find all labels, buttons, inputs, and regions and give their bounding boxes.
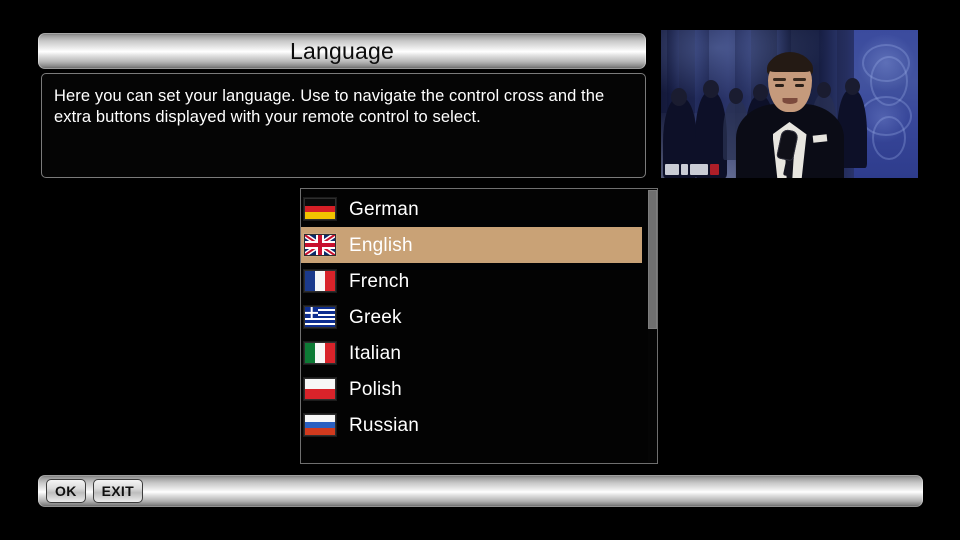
- exit-button[interactable]: EXIT: [93, 479, 143, 503]
- pocket-square: [813, 134, 828, 142]
- logo-segment: [665, 164, 679, 175]
- description-text: Here you can set your language. Use to n…: [54, 86, 632, 128]
- flag-ru-icon: [304, 414, 336, 436]
- flag-it-icon: [304, 342, 336, 364]
- logo-segment: [681, 164, 688, 175]
- channel-logo: [665, 163, 719, 175]
- reporter-eye: [795, 84, 804, 87]
- crowd-head: [753, 84, 768, 101]
- flag-pl-icon: [304, 378, 336, 400]
- list-item-label: French: [349, 272, 409, 291]
- list-item-label: Greek: [349, 308, 402, 327]
- decor-swirl: [872, 116, 906, 160]
- ok-button[interactable]: OK: [46, 479, 86, 503]
- logo-segment-accent: [710, 164, 719, 175]
- list-item[interactable]: Greek: [301, 299, 642, 335]
- language-list[interactable]: German English French: [301, 191, 642, 453]
- logo-segment: [690, 164, 708, 175]
- list-item[interactable]: English: [301, 227, 642, 263]
- crowd-head: [729, 88, 743, 104]
- language-list-panel: German English French: [300, 188, 658, 464]
- reporter-brow: [793, 78, 806, 81]
- bottom-action-bar: OK EXIT: [38, 475, 923, 507]
- list-item[interactable]: German: [301, 191, 642, 227]
- description-panel: Here you can set your language. Use to n…: [41, 73, 646, 178]
- list-item-label: Italian: [349, 344, 401, 363]
- language-list-scrollbar[interactable]: [648, 190, 657, 462]
- crowd-head: [703, 80, 719, 98]
- list-item-label: Polish: [349, 380, 402, 399]
- reporter-eye: [775, 84, 784, 87]
- list-item-label: English: [349, 236, 413, 255]
- list-item[interactable]: Russian: [301, 407, 642, 443]
- list-item-label: Russian: [349, 416, 419, 435]
- flag-de-icon: [304, 198, 336, 220]
- reporter-brow: [773, 78, 786, 81]
- page-title-bar: Language: [38, 33, 646, 69]
- tv-settings-screen: Language Here you can set your language.…: [0, 0, 960, 540]
- flag-gb-icon: [304, 234, 336, 256]
- live-tv-preview[interactable]: [661, 30, 918, 178]
- crowd-head: [817, 82, 831, 98]
- page-title: Language: [290, 40, 394, 63]
- crowd-head: [671, 88, 687, 106]
- crowd-head: [845, 78, 860, 95]
- list-item[interactable]: French: [301, 263, 642, 299]
- reporter-mouth: [782, 98, 797, 104]
- scrollbar-thumb[interactable]: [648, 190, 657, 329]
- list-item[interactable]: Polish: [301, 371, 642, 407]
- list-item[interactable]: Italian: [301, 335, 642, 371]
- list-item-label: German: [349, 200, 419, 219]
- flag-gr-icon: [304, 306, 336, 328]
- flag-fr-icon: [304, 270, 336, 292]
